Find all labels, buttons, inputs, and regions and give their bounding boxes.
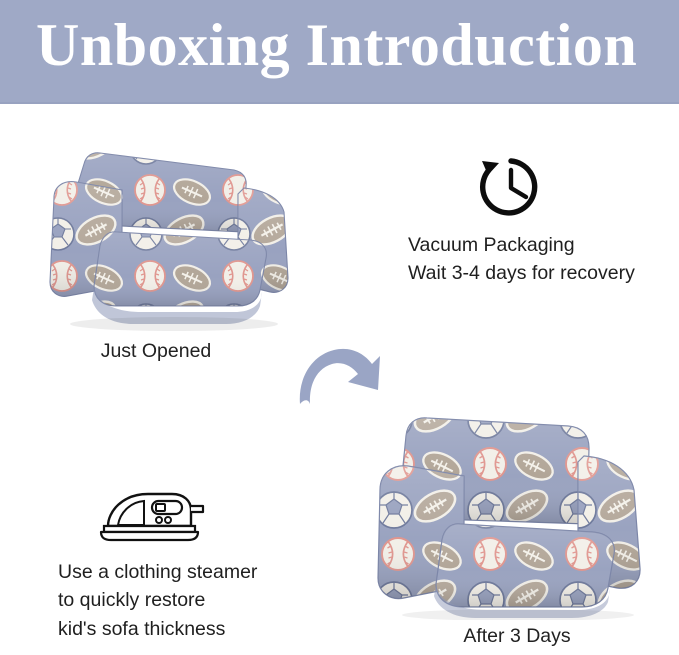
product-image-just-opened — [38, 128, 310, 333]
header-banner: Unboxing Introduction — [0, 0, 679, 104]
page-title: Unboxing Introduction — [36, 14, 637, 77]
product-image-after-3-days — [372, 398, 668, 620]
caption-just-opened: Just Opened — [0, 337, 312, 365]
tip-vacuum-line1: Vacuum Packaging — [408, 234, 575, 256]
tip-steamer-line1: Use a clothing steamer — [58, 558, 257, 586]
tip-steamer-text: Use a clothing steamer to quickly restor… — [58, 558, 257, 643]
clock-restore-icon — [474, 150, 548, 224]
tip-vacuum-line2: Wait 3-4 days for recovery — [408, 262, 635, 284]
clothing-iron-icon — [96, 482, 208, 544]
tip-steamer-line2: to quickly restore — [58, 586, 257, 614]
curved-arrow-icon — [296, 344, 382, 406]
tip-vacuum-text: Vacuum Packaging Wait 3-4 days for recov… — [408, 232, 635, 287]
caption-after-3-days: After 3 Days — [367, 622, 667, 650]
tip-steamer-line3: kid's sofa thickness — [58, 615, 257, 643]
